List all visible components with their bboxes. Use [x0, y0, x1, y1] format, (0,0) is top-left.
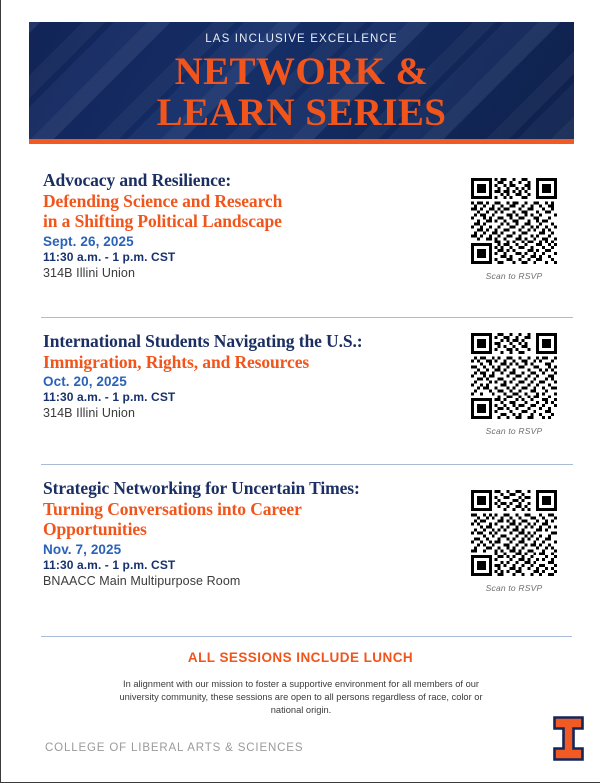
- qr-code-icon[interactable]: [471, 178, 557, 264]
- title-line-2: LEARN SERIES: [29, 92, 574, 133]
- event-qr-block[interactable]: Scan to RSVP: [468, 490, 560, 593]
- event-item: Advocacy and Resilience: Defending Scien…: [1, 170, 600, 317]
- college-name: COLLEGE OF LIBERAL ARTS & SCIENCES: [45, 742, 303, 754]
- page-title: NETWORK & LEARN SERIES: [29, 51, 574, 133]
- event-qr-block[interactable]: Scan to RSVP: [468, 333, 560, 436]
- footer-divider: [41, 636, 572, 637]
- qr-code-icon[interactable]: [471, 490, 557, 576]
- event-item: International Students Navigating the U.…: [1, 317, 600, 464]
- header-kicker: LAS INCLUSIVE EXCELLENCE: [29, 33, 574, 45]
- illinois-block-i-logo: [552, 715, 585, 762]
- poster-header: LAS INCLUSIVE EXCELLENCE NETWORK & LEARN…: [29, 22, 574, 144]
- disclaimer-text: In alignment with our mission to foster …: [119, 678, 483, 718]
- qr-caption: Scan to RSVP: [468, 583, 560, 593]
- qr-code-icon[interactable]: [471, 333, 557, 419]
- qr-caption: Scan to RSVP: [468, 426, 560, 436]
- event-item: Strategic Networking for Uncertain Times…: [1, 464, 600, 611]
- event-divider: [41, 317, 573, 318]
- event-qr-block[interactable]: Scan to RSVP: [468, 178, 560, 281]
- event-list: Advocacy and Resilience: Defending Scien…: [1, 170, 600, 611]
- header-accent-rule: [29, 139, 574, 144]
- title-line-1: NETWORK &: [29, 51, 574, 92]
- header-banner: LAS INCLUSIVE EXCELLENCE NETWORK & LEARN…: [29, 22, 574, 139]
- qr-caption: Scan to RSVP: [468, 271, 560, 281]
- event-divider: [41, 464, 573, 465]
- lunch-note: ALL SESSIONS INCLUDE LUNCH: [1, 650, 600, 665]
